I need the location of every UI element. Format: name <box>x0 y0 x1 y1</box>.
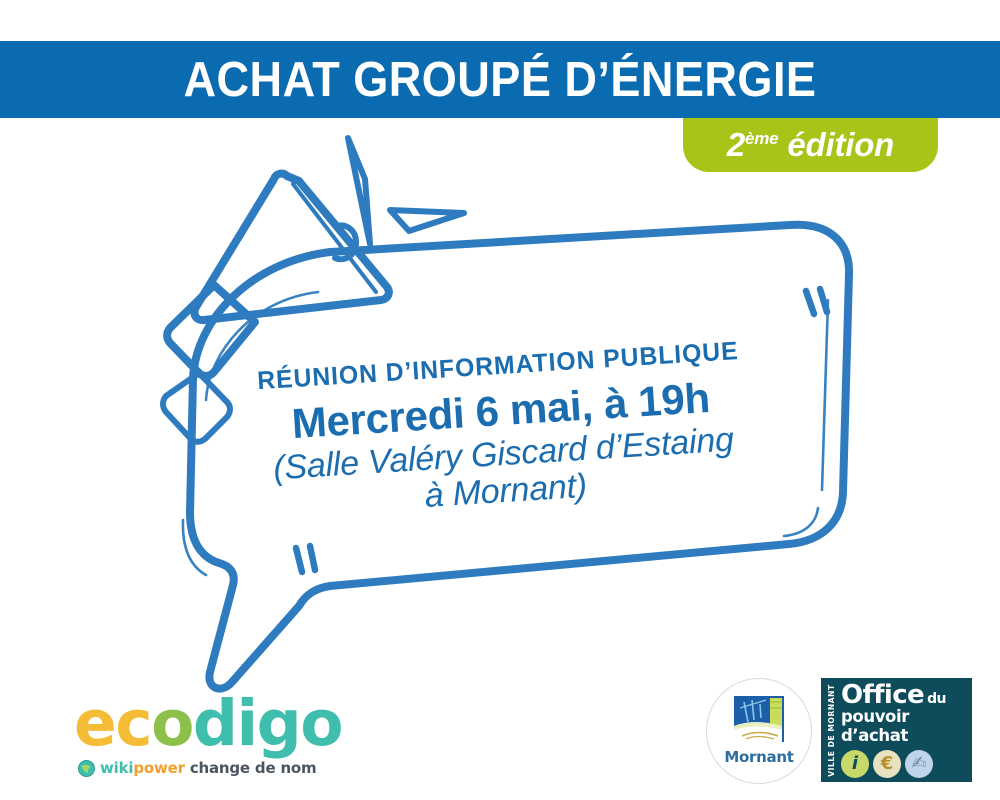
euro-icon: € <box>873 750 901 778</box>
office-title: Officedu <box>841 682 966 708</box>
page-title: ACHAT GROUPÉ D’ÉNERGIE <box>184 52 817 108</box>
ecodigo-wordmark: ecodigo <box>74 692 342 755</box>
header-banner: ACHAT GROUPÉ D’ÉNERGIE <box>0 41 1000 118</box>
office-vertical-band: VILLE DE MORNANT <box>821 678 841 782</box>
office-vertical-text: VILLE DE MORNANT <box>827 684 836 777</box>
edition-word: édition <box>787 126 894 163</box>
edition-badge: 2ème édition <box>683 118 938 172</box>
ecodigo-letter-c: c <box>115 687 151 760</box>
office-title-main: Office <box>841 680 924 710</box>
globe-icon <box>78 760 95 777</box>
ecodigo-letter-e: e <box>74 687 115 760</box>
quote-mark-top-right <box>806 289 827 314</box>
tagline-rest: change de nom <box>190 759 317 777</box>
tagline-power: power <box>133 759 184 777</box>
edition-ordinal-suffix: ème <box>745 129 778 148</box>
quote-mark-bottom-left <box>296 546 315 572</box>
office-title-small: du <box>927 691 946 707</box>
mornant-crest-icon <box>732 696 786 746</box>
ecodigo-letter-o1: o <box>151 687 193 760</box>
office-icon-row: i € ✍ <box>841 750 966 778</box>
info-icon: i <box>841 750 869 778</box>
edition-badge-label: 2ème édition <box>727 126 894 164</box>
mornant-logo: Mornant <box>706 678 812 784</box>
office-pouvoir-achat-logo: VILLE DE MORNANT Officedu pouvoir d’acha… <box>821 678 972 782</box>
hand-icon: ✍ <box>905 750 933 778</box>
tagline-wiki: wiki <box>100 759 133 777</box>
ecodigo-logo: ecodigo wikipower change de nom <box>74 692 342 777</box>
office-main-block: Officedu pouvoir d’achat i € ✍ <box>841 678 972 782</box>
office-subtitle: pouvoir d’achat <box>841 708 966 746</box>
ecodigo-letter-g: g <box>257 687 301 760</box>
ecodigo-letter-d: d <box>193 687 237 760</box>
mornant-label: Mornant <box>724 748 793 766</box>
bubble-text-block: RÉUNION D’INFORMATION PUBLIQUE Mercredi … <box>218 335 787 527</box>
edition-number: 2 <box>727 126 745 163</box>
ecodigo-letter-i: i <box>237 687 257 760</box>
ecodigo-letter-o2: o <box>300 687 342 760</box>
ecodigo-tagline: wikipower change de nom <box>78 759 342 777</box>
